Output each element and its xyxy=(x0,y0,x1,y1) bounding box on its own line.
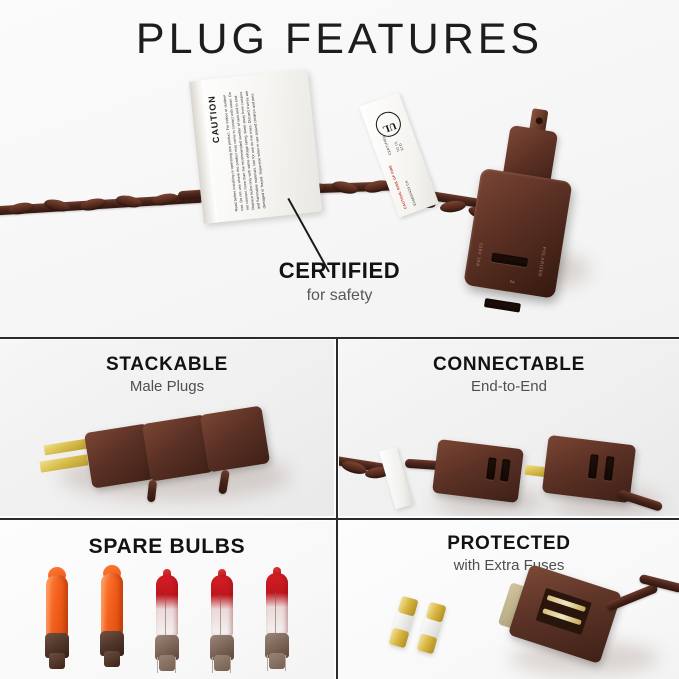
panel-protected-subtitle: with Extra Fuses xyxy=(339,557,679,574)
panel-stackable-title: STACKABLE xyxy=(0,354,334,376)
caution-tag-body: Read before installing or operating this… xyxy=(222,80,315,212)
fuse-1 xyxy=(388,596,418,649)
panel-connectable-title: CONNECTABLE xyxy=(339,354,679,376)
socket-slot-l1 xyxy=(486,457,497,480)
certified-callout: CERTIFIED for safety xyxy=(0,258,679,305)
panel-stackable: STACKABLE Male Plugs xyxy=(0,340,334,516)
bulb-red-2 xyxy=(208,569,236,675)
bulb-red-1 xyxy=(153,569,181,675)
socket-slot-r2 xyxy=(604,456,615,481)
callout-subline: for safety xyxy=(0,287,679,305)
hero-panel: PLUG FEATURES CAUTION xyxy=(0,0,679,337)
divider-horizontal-top xyxy=(0,337,679,339)
panel-connectable-subtitle: End-to-End xyxy=(339,378,679,395)
panel-protected-title: PROTECTED xyxy=(339,533,679,555)
panel-protected: PROTECTED with Extra Fuses xyxy=(339,521,679,679)
callout-headline: CERTIFIED xyxy=(0,258,679,284)
fuse-2 xyxy=(416,602,446,655)
caution-tag: CAUTION Read before installing or operat… xyxy=(189,69,322,224)
conn-hang-tag xyxy=(379,447,413,510)
product-infographic: PLUG FEATURES CAUTION xyxy=(0,0,679,679)
male-plug-3 xyxy=(200,406,270,473)
certification-tag: UL CERTIFIED TO UL STD CAUTION: RISK OF … xyxy=(359,92,439,217)
female-plug-left xyxy=(432,439,524,503)
bulb-orange-2 xyxy=(98,565,126,671)
divider-horizontal-bottom xyxy=(0,518,679,520)
panel-connectable-header: CONNECTABLE End-to-End xyxy=(339,354,679,395)
divider-vertical xyxy=(336,337,338,679)
panel-spare-bulbs: SPARE BULBS xyxy=(0,521,334,679)
cert-code: E00832423 CA xyxy=(396,156,418,206)
panel-stackable-header: STACKABLE Male Plugs xyxy=(0,354,334,395)
panel-spare-bulbs-header: SPARE BULBS xyxy=(0,535,334,559)
cert-label-bottom: TO UL STD xyxy=(392,137,404,153)
bulb-orange-1 xyxy=(43,567,71,673)
panel-spare-bulbs-title: SPARE BULBS xyxy=(0,535,334,559)
plug-blade-a xyxy=(43,439,88,456)
panel-protected-header: PROTECTED with Extra Fuses xyxy=(339,533,679,574)
socket-slot-l2 xyxy=(500,459,511,482)
ul-mark-text: UL xyxy=(377,118,402,136)
page-title: PLUG FEATURES xyxy=(0,18,679,61)
socket-slot-r1 xyxy=(588,454,599,479)
panel-stackable-subtitle: Male Plugs xyxy=(0,378,334,395)
cert-label-top: CERTIFIED xyxy=(384,141,393,156)
panel-connectable: CONNECTABLE End-to-End xyxy=(339,340,679,516)
bulb-red-3 xyxy=(263,567,291,673)
